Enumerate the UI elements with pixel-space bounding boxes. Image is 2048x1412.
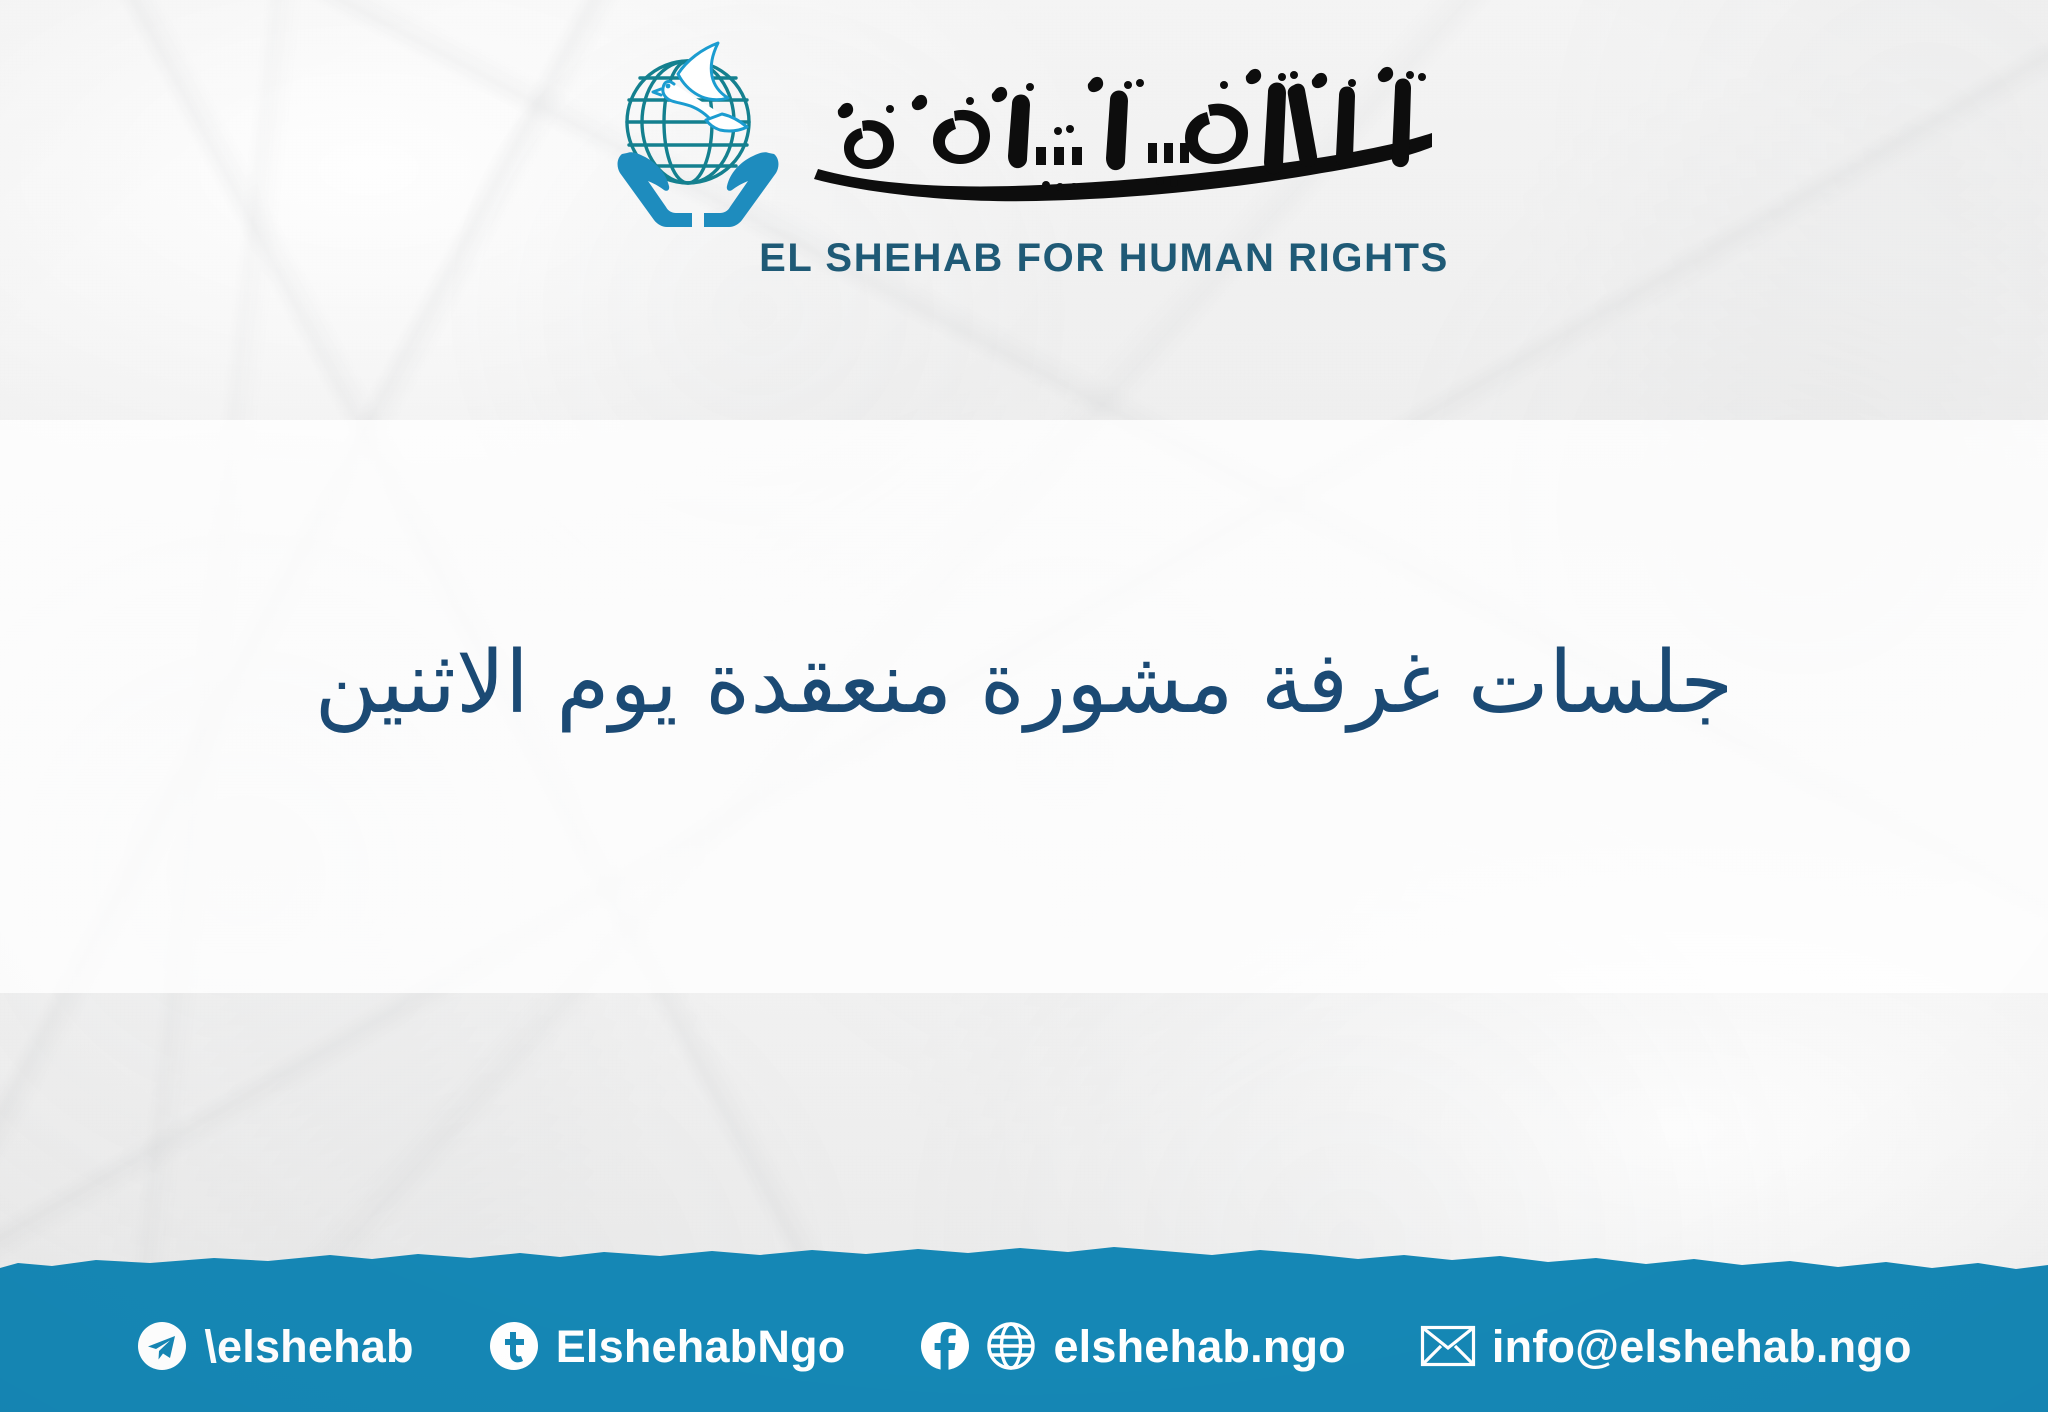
contact-telegram[interactable]: \elshehab — [136, 1320, 413, 1372]
logo-tagline: EL SHEHAB FOR HUMAN RIGHTS — [759, 236, 1449, 281]
announcement-poster: EL SHEHAB FOR HUMAN RIGHTS جلسات غرفة مش… — [0, 0, 2048, 1412]
logo-row — [604, 38, 1444, 234]
website-icon-group — [919, 1320, 1037, 1372]
contact-email-label: info@elshehab.ngo — [1492, 1324, 1912, 1369]
contact-email[interactable]: info@elshehab.ngo — [1420, 1324, 1912, 1369]
telegram-icon — [136, 1320, 188, 1372]
footer-bar: \elshehab ElshehabNgo — [0, 1280, 2048, 1412]
dove-icon — [653, 43, 747, 131]
footer-contacts: \elshehab ElshehabNgo — [0, 1280, 2048, 1412]
contact-website[interactable]: elshehab.ngo — [919, 1320, 1345, 1372]
twitter-icon — [488, 1320, 540, 1372]
contact-website-label: elshehab.ngo — [1053, 1324, 1345, 1369]
contact-telegram-label: \elshehab — [204, 1324, 413, 1369]
cupped-hands-icon — [618, 152, 779, 227]
facebook-icon — [919, 1320, 971, 1372]
logo-arabic-calligraphy — [804, 61, 1444, 211]
logo-emblem — [604, 38, 792, 234]
contact-twitter[interactable]: ElshehabNgo — [488, 1320, 846, 1372]
organization-logo: EL SHEHAB FOR HUMAN RIGHTS — [0, 38, 2048, 281]
headline-text: جلسات غرفة مشورة منعقدة يوم الاثنين — [0, 630, 2048, 738]
email-icon — [1420, 1324, 1476, 1368]
globe-icon — [985, 1320, 1037, 1372]
contact-twitter-label: ElshehabNgo — [556, 1324, 846, 1369]
